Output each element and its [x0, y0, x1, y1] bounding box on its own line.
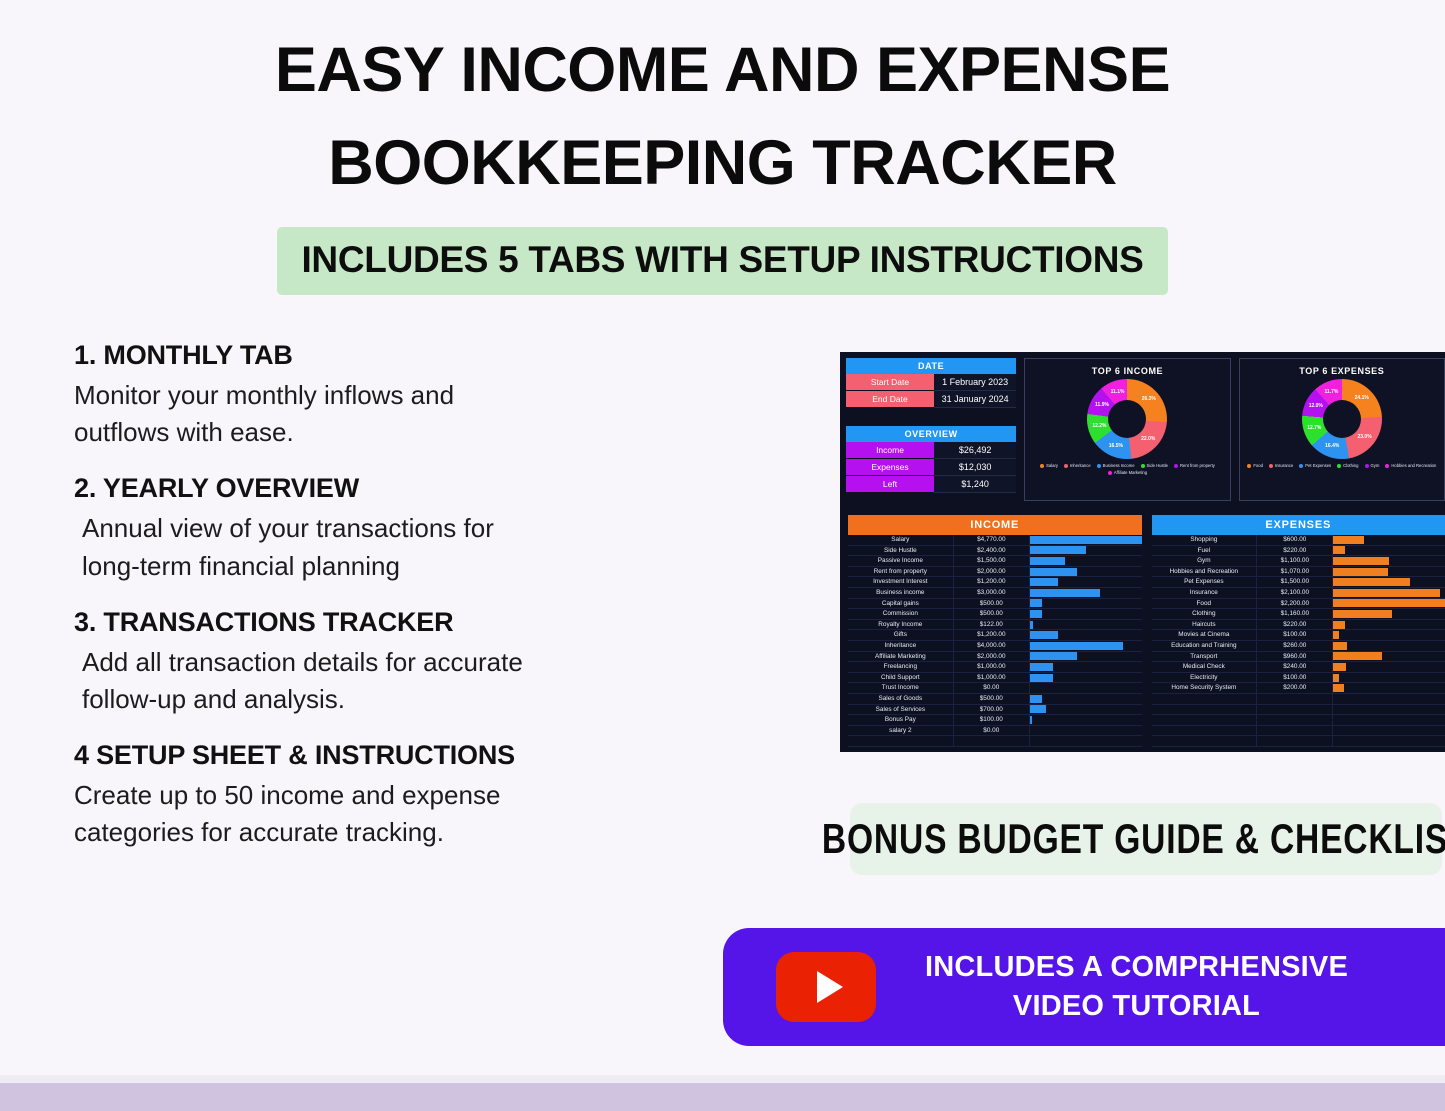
table-row: Trust Income$0.00 [848, 683, 1142, 694]
overview-left-label: Left [846, 476, 934, 493]
donut-slice-percent: 11.1% [1111, 389, 1125, 395]
table-row-empty [1152, 736, 1445, 747]
table-cell-bar [1030, 715, 1142, 726]
table-cell-amount: $2,100.00 [1257, 588, 1333, 599]
table-row: Child Support$1,000.00 [848, 673, 1142, 684]
table-cell-bar [1333, 588, 1445, 599]
table-bar [1333, 652, 1382, 660]
table-row: Freelancing$1,000.00 [848, 662, 1142, 673]
table-row: Medical Check$240.00 [1152, 662, 1445, 673]
overview-income-label: Income [846, 442, 934, 459]
table-cell-bar [1030, 630, 1142, 641]
table-cell-amount: $220.00 [1257, 546, 1333, 557]
table-bar [1333, 557, 1389, 565]
feature-desc-3-line-2: follow-up and analysis. [82, 681, 774, 718]
table-cell-bar [1030, 683, 1142, 694]
date-row-start-label: Start Date [846, 374, 934, 391]
table-bar [1333, 546, 1344, 554]
table-cell-bar [1030, 705, 1142, 716]
table-row: Hobbies and Recreation$1,070.00 [1152, 567, 1445, 578]
overview-expenses-label: Expenses [846, 459, 934, 476]
donut-slice-percent: 11.9% [1095, 402, 1109, 408]
table-cell-category [1152, 726, 1258, 737]
table-bar [1333, 642, 1346, 650]
top-expenses-donut: 24.1%23.0%16.4%12.7%12.0%11.7% [1302, 379, 1382, 459]
feature-desc-3-line-1: Add all transaction details for accurate [82, 644, 774, 681]
legend-label: Salary [1046, 463, 1058, 468]
legend-label: Pet Expenses [1305, 463, 1331, 468]
table-cell-amount: $1,200.00 [954, 577, 1030, 588]
table-cell-category [1152, 694, 1258, 705]
table-bar [1333, 684, 1343, 692]
table-cell-amount: $0.00 [954, 726, 1030, 737]
table-cell-bar [1030, 609, 1142, 620]
top-expenses-donut-card: TOP 6 EXPENSES 24.1%23.0%16.4%12.7%12.0%… [1239, 358, 1445, 501]
legend-item: Pet Expenses [1299, 463, 1331, 468]
table-cell-bar [1333, 683, 1445, 694]
legend-item: Hobbies and Recreation [1385, 463, 1436, 468]
spreadsheet-preview: DATE Start Date 1 February 2023 End Date… [840, 352, 1445, 752]
table-cell-category: Passive Income [848, 556, 954, 567]
video-tutorial-text: INCLUDES A COMPRHENSIVE VIDEO TUTORIAL [876, 948, 1445, 1026]
donut-slice-percent: 11.7% [1324, 389, 1338, 395]
table-cell-amount [1257, 726, 1333, 737]
table-bar [1030, 631, 1058, 639]
table-row-empty [1152, 715, 1445, 726]
date-row-start-value: 1 February 2023 [934, 374, 1016, 391]
legend-label: Clothing [1343, 463, 1358, 468]
table-cell-bar [1030, 652, 1142, 663]
top-income-donut-card: TOP 6 INCOME 26.3%22.0%16.5%12.2%11.9%11… [1024, 358, 1230, 501]
legend-color-dot [1385, 464, 1389, 468]
bottom-accent-bar [0, 1081, 1445, 1111]
table-bar [1333, 589, 1439, 597]
legend-color-dot [1299, 464, 1303, 468]
expenses-table: EXPENSES Shopping$600.00Fuel$220.00Gym$1… [1152, 515, 1445, 747]
table-row: Shopping$600.00 [1152, 535, 1445, 546]
table-cell-category: Haircuts [1152, 620, 1258, 631]
table-cell-category [1152, 736, 1258, 747]
video-tutorial-line-1: INCLUDES A COMPRHENSIVE [876, 948, 1397, 987]
table-row-empty [848, 736, 1142, 747]
table-cell-amount: $500.00 [954, 599, 1030, 610]
legend-label: Hobbies and Recreation [1391, 463, 1436, 468]
table-cell-amount [1257, 715, 1333, 726]
table-bar [1030, 610, 1042, 618]
table-bar [1333, 674, 1338, 682]
feature-desc-1-line-2: outflows with ease. [74, 414, 774, 451]
overview-row-income: Income $26,492 [846, 442, 1016, 459]
page-title-line-1: EASY INCOME AND EXPENSE [0, 24, 1445, 117]
table-cell-amount: $1,070.00 [1257, 567, 1333, 578]
table-bar [1030, 674, 1053, 682]
donut-slice-percent: 26.3% [1142, 396, 1156, 402]
table-row-empty [1152, 694, 1445, 705]
date-row-end-label: End Date [846, 391, 934, 408]
table-cell-bar [1333, 694, 1445, 705]
table-row: Education and Training$260.00 [1152, 641, 1445, 652]
table-bar [1030, 663, 1053, 671]
income-table: INCOME Salary$4,770.00Side Hustle$2,400.… [848, 515, 1142, 747]
table-cell-bar [1333, 535, 1445, 546]
table-cell-bar [1333, 736, 1445, 747]
income-table-body: Salary$4,770.00Side Hustle$2,400.00Passi… [848, 535, 1142, 747]
table-cell-amount [1257, 705, 1333, 716]
legend-color-dot [1247, 464, 1251, 468]
overview-left-value: $1,240 [934, 476, 1016, 493]
table-cell-category: Sales of Goods [848, 694, 954, 705]
table-cell-amount: $0.00 [954, 683, 1030, 694]
table-cell-category: Commission [848, 609, 954, 620]
table-cell-category: Investment Interest [848, 577, 954, 588]
table-cell-amount [1257, 694, 1333, 705]
table-cell-category: Side Hustle [848, 546, 954, 557]
table-bar [1030, 652, 1077, 660]
table-cell-category: Gifts [848, 630, 954, 641]
table-bar [1030, 705, 1046, 713]
feature-desc-4-line-1: Create up to 50 income and expense [74, 777, 774, 814]
table-bar [1030, 568, 1077, 576]
table-cell-category: salary 2 [848, 726, 954, 737]
table-cell-bar [1030, 673, 1142, 684]
table-row: Commission$500.00 [848, 609, 1142, 620]
table-cell-category: Clothing [1152, 609, 1258, 620]
table-bar [1030, 599, 1042, 607]
table-cell-bar [1333, 715, 1445, 726]
table-row: Sales of Goods$500.00 [848, 694, 1142, 705]
table-cell-category: Education and Training [1152, 641, 1258, 652]
donut-slice-percent: 16.5% [1109, 443, 1123, 449]
table-cell-category [848, 736, 954, 747]
table-bar [1030, 546, 1086, 554]
table-cell-amount: $200.00 [1257, 683, 1333, 694]
table-cell-amount: $2,000.00 [954, 652, 1030, 663]
table-cell-bar [1333, 705, 1445, 716]
feature-title-3: 3. TRANSACTIONS TRACKER [74, 607, 774, 638]
table-row: Pet Expenses$1,500.00 [1152, 577, 1445, 588]
table-bar [1030, 695, 1042, 703]
table-cell-bar [1030, 567, 1142, 578]
date-row-end-value: 31 January 2024 [934, 391, 1016, 408]
play-triangle-icon [817, 971, 843, 1003]
legend-item: Inheritance [1064, 463, 1091, 468]
table-cell-bar [1333, 652, 1445, 663]
table-cell-amount: $2,400.00 [954, 546, 1030, 557]
income-table-header: INCOME [848, 515, 1142, 535]
spreadsheet-bottom-row: INCOME Salary$4,770.00Side Hustle$2,400.… [840, 501, 1445, 747]
table-row: Gifts$1,200.00 [848, 630, 1142, 641]
legend-item: Business Income [1097, 463, 1135, 468]
table-cell-bar [1030, 546, 1142, 557]
table-cell-amount: $2,000.00 [954, 567, 1030, 578]
subtitle-banner: INCLUDES 5 TABS WITH SETUP INSTRUCTIONS [277, 227, 1167, 295]
table-cell-amount: $500.00 [954, 694, 1030, 705]
feature-title-1: 1. MONTHLY TAB [74, 340, 774, 371]
table-cell-category: Bonus Pay [848, 715, 954, 726]
table-cell-category: Trust Income [848, 683, 954, 694]
table-bar [1030, 716, 1032, 724]
table-cell-category: Insurance [1152, 588, 1258, 599]
table-cell-category: Freelancing [848, 662, 954, 673]
table-cell-bar [1333, 641, 1445, 652]
table-cell-amount: $2,200.00 [1257, 599, 1333, 610]
table-row: Investment Interest$1,200.00 [848, 577, 1142, 588]
video-tutorial-banner[interactable]: INCLUDES A COMPRHENSIVE VIDEO TUTORIAL [723, 928, 1445, 1046]
legend-item: Insurance [1269, 463, 1293, 468]
legend-label: Affiliate Marketing [1114, 470, 1147, 475]
table-cell-category: Salary [848, 535, 954, 546]
legend-item: Gym [1365, 463, 1380, 468]
legend-color-dot [1365, 464, 1369, 468]
legend-label: Rent from property [1180, 463, 1215, 468]
donut-slice-percent: 22.0% [1141, 436, 1155, 442]
expenses-table-header: EXPENSES [1152, 515, 1445, 535]
table-row: Inheritance$4,000.00 [848, 641, 1142, 652]
table-cell-category: Gym [1152, 556, 1258, 567]
feature-desc-1: Monitor your monthly inflows and outflow… [74, 377, 774, 451]
table-bar [1030, 536, 1142, 544]
legend-color-dot [1040, 464, 1044, 468]
table-cell-bar [1333, 609, 1445, 620]
bonus-banner-text: BONUS BUDGET GUIDE & CHECKLIST [822, 815, 1445, 863]
feature-desc-1-line-1: Monitor your monthly inflows and [74, 377, 774, 414]
top-income-donut: 26.3%22.0%16.5%12.2%11.9%11.1% [1087, 379, 1167, 459]
table-row: Home Security System$200.00 [1152, 683, 1445, 694]
table-cell-category: Affiliate Marketing [848, 652, 954, 663]
legend-color-dot [1337, 464, 1341, 468]
table-row: Clothing$1,160.00 [1152, 609, 1445, 620]
table-row: Bonus Pay$100.00 [848, 715, 1142, 726]
donut-slice-percent: 24.1% [1355, 395, 1369, 401]
feature-desc-4: Create up to 50 income and expense categ… [74, 777, 774, 851]
legend-label: Side Hustle [1147, 463, 1168, 468]
table-cell-category: Sales of Services [848, 705, 954, 716]
legend-label: Gym [1371, 463, 1380, 468]
table-bar [1333, 536, 1363, 544]
table-cell-amount: $600.00 [1257, 535, 1333, 546]
legend-label: Business Income [1103, 463, 1135, 468]
legend-color-dot [1269, 464, 1273, 468]
top-income-donut-title: TOP 6 INCOME [1025, 359, 1229, 376]
feature-item-2: 2. YEARLY OVERVIEW Annual view of your t… [74, 473, 774, 584]
table-cell-category [1152, 705, 1258, 716]
spreadsheet-top-row: DATE Start Date 1 February 2023 End Date… [840, 352, 1445, 501]
legend-color-dot [1174, 464, 1178, 468]
legend-color-dot [1108, 471, 1112, 475]
page-title-line-2: BOOKKEEPING TRACKER [0, 117, 1445, 210]
table-row: Insurance$2,100.00 [1152, 588, 1445, 599]
table-cell-category: Medical Check [1152, 662, 1258, 673]
table-row: Gym$1,100.00 [1152, 556, 1445, 567]
table-cell-amount: $960.00 [1257, 652, 1333, 663]
date-row-start: Start Date 1 February 2023 [846, 374, 1016, 391]
table-cell-amount: $1,500.00 [954, 556, 1030, 567]
table-cell-category: Royalty Income [848, 620, 954, 631]
table-bar [1030, 621, 1033, 629]
table-bar [1030, 589, 1100, 597]
feature-list: 1. MONTHLY TAB Monitor your monthly infl… [74, 340, 774, 873]
table-cell-amount: $1,500.00 [1257, 577, 1333, 588]
table-cell-bar [1333, 599, 1445, 610]
video-tutorial-line-2: VIDEO TUTORIAL [876, 987, 1397, 1026]
feature-item-3: 3. TRANSACTIONS TRACKER Add all transact… [74, 607, 774, 718]
table-row: Food$2,200.00 [1152, 599, 1445, 610]
table-cell-bar [1030, 694, 1142, 705]
table-cell-amount: $1,000.00 [954, 662, 1030, 673]
table-cell-bar [1333, 620, 1445, 631]
table-cell-amount: $100.00 [954, 715, 1030, 726]
legend-item: Clothing [1337, 463, 1358, 468]
table-cell-bar [1030, 662, 1142, 673]
table-row: Business income$3,000.00 [848, 588, 1142, 599]
table-cell-category: Rent from property [848, 567, 954, 578]
table-cell-bar [1333, 630, 1445, 641]
table-bar [1333, 663, 1345, 671]
date-row-end: End Date 31 January 2024 [846, 391, 1016, 408]
table-cell-category: Electricity [1152, 673, 1258, 684]
table-cell-amount: $220.00 [1257, 620, 1333, 631]
page-title: EASY INCOME AND EXPENSE BOOKKEEPING TRAC… [0, 0, 1445, 209]
table-bar [1333, 631, 1338, 639]
table-cell-amount: $122.00 [954, 620, 1030, 631]
table-cell-category: Capital gains [848, 599, 954, 610]
table-cell-category: Food [1152, 599, 1258, 610]
overview-panel-header: OVERVIEW [846, 426, 1016, 442]
table-cell-category: Home Security System [1152, 683, 1258, 694]
donut-slice-percent: 12.0% [1309, 403, 1323, 409]
feature-title-4: 4 SETUP SHEET & INSTRUCTIONS [74, 740, 774, 771]
table-bar [1333, 610, 1392, 618]
table-row: Haircuts$220.00 [1152, 620, 1445, 631]
table-cell-category: Movies at Cinema [1152, 630, 1258, 641]
table-cell-bar [1030, 588, 1142, 599]
expenses-table-body: Shopping$600.00Fuel$220.00Gym$1,100.00Ho… [1152, 535, 1445, 747]
table-cell-category: Fuel [1152, 546, 1258, 557]
panel-gap [846, 408, 1016, 426]
table-cell-category: Hobbies and Recreation [1152, 567, 1258, 578]
date-overview-panels: DATE Start Date 1 February 2023 End Date… [846, 358, 1016, 501]
legend-item: Salary [1040, 463, 1058, 468]
legend-color-dot [1064, 464, 1068, 468]
table-cell-bar [1030, 726, 1142, 737]
table-cell-bar [1030, 736, 1142, 747]
legend-item: Affiliate Marketing [1108, 470, 1147, 475]
overview-row-expenses: Expenses $12,030 [846, 459, 1016, 476]
table-row-empty [1152, 705, 1445, 716]
bonus-banner: BONUS BUDGET GUIDE & CHECKLIST [850, 803, 1442, 875]
table-bar [1333, 578, 1409, 586]
table-cell-amount: $100.00 [1257, 673, 1333, 684]
feature-desc-2: Annual view of your transactions for lon… [82, 510, 774, 584]
feature-item-1: 1. MONTHLY TAB Monitor your monthly infl… [74, 340, 774, 451]
subtitle-banner-wrap: INCLUDES 5 TABS WITH SETUP INSTRUCTIONS [0, 227, 1445, 295]
table-bar [1333, 568, 1387, 576]
table-cell-category: Child Support [848, 673, 954, 684]
table-cell-amount: $240.00 [1257, 662, 1333, 673]
feature-item-4: 4 SETUP SHEET & INSTRUCTIONS Create up t… [74, 740, 774, 851]
legend-color-dot [1141, 464, 1145, 468]
table-row-empty [1152, 726, 1445, 737]
table-cell-amount: $1,000.00 [954, 673, 1030, 684]
legend-color-dot [1097, 464, 1101, 468]
donut-slice-percent: 16.4% [1325, 443, 1339, 449]
table-row: Salary$4,770.00 [848, 535, 1142, 546]
table-cell-bar [1030, 620, 1142, 631]
table-cell-amount: $1,160.00 [1257, 609, 1333, 620]
table-cell-bar [1030, 641, 1142, 652]
overview-income-value: $26,492 [934, 442, 1016, 459]
legend-label: Inheritance [1070, 463, 1091, 468]
donut-slice-percent: 12.7% [1307, 425, 1321, 431]
table-row: salary 2$0.00 [848, 726, 1142, 737]
table-cell-amount: $100.00 [1257, 630, 1333, 641]
table-row: Affiliate Marketing$2,000.00 [848, 652, 1142, 663]
table-row: Side Hustle$2,400.00 [848, 546, 1142, 557]
table-cell-bar [1030, 556, 1142, 567]
top-expenses-donut-title: TOP 6 EXPENSES [1240, 359, 1444, 376]
table-cell-bar [1333, 546, 1445, 557]
table-cell-bar [1333, 567, 1445, 578]
overview-expenses-value: $12,030 [934, 459, 1016, 476]
table-cell-bar [1333, 726, 1445, 737]
table-cell-category [1152, 715, 1258, 726]
table-cell-bar [1333, 577, 1445, 588]
table-cell-amount: $1,200.00 [954, 630, 1030, 641]
table-bar [1030, 557, 1065, 565]
table-row: Fuel$220.00 [1152, 546, 1445, 557]
top-expenses-legend: FoodInsurancePet ExpensesClothingGymHobb… [1240, 459, 1444, 468]
table-cell-amount: $4,000.00 [954, 641, 1030, 652]
table-cell-category: Business income [848, 588, 954, 599]
table-cell-amount: $1,100.00 [1257, 556, 1333, 567]
table-row: Capital gains$500.00 [848, 599, 1142, 610]
feature-desc-2-line-2: long-term financial planning [82, 548, 774, 585]
table-cell-amount: $260.00 [1257, 641, 1333, 652]
table-cell-category: Shopping [1152, 535, 1258, 546]
youtube-play-icon [776, 952, 876, 1022]
table-row: Royalty Income$122.00 [848, 620, 1142, 631]
table-cell-bar [1030, 577, 1142, 588]
table-cell-amount: $3,000.00 [954, 588, 1030, 599]
legend-item: Side Hustle [1141, 463, 1168, 468]
table-bar [1333, 599, 1445, 607]
table-cell-bar [1030, 535, 1142, 546]
table-cell-category: Inheritance [848, 641, 954, 652]
donut-slice-percent: 12.2% [1092, 423, 1106, 429]
date-panel-header: DATE [846, 358, 1016, 374]
feature-title-2: 2. YEARLY OVERVIEW [74, 473, 774, 504]
table-row: Sales of Services$700.00 [848, 705, 1142, 716]
table-cell-amount: $500.00 [954, 609, 1030, 620]
table-bar [1030, 642, 1124, 650]
table-row: Rent from property$2,000.00 [848, 567, 1142, 578]
table-cell-bar [1333, 662, 1445, 673]
table-cell-category: Transport [1152, 652, 1258, 663]
table-cell-bar [1030, 599, 1142, 610]
table-cell-amount: $700.00 [954, 705, 1030, 716]
table-row: Movies at Cinema$100.00 [1152, 630, 1445, 641]
feature-desc-4-line-2: categories for accurate tracking. [74, 814, 774, 851]
table-bar [1030, 578, 1058, 586]
table-row: Electricity$100.00 [1152, 673, 1445, 684]
donut-slice-percent: 23.0% [1357, 434, 1371, 440]
overview-row-left: Left $1,240 [846, 476, 1016, 493]
legend-label: Food [1253, 463, 1263, 468]
table-cell-amount: $4,770.00 [954, 535, 1030, 546]
table-cell-amount [1257, 736, 1333, 747]
table-row: Passive Income$1,500.00 [848, 556, 1142, 567]
top-income-legend: SalaryInheritanceBusiness IncomeSide Hus… [1025, 459, 1229, 475]
